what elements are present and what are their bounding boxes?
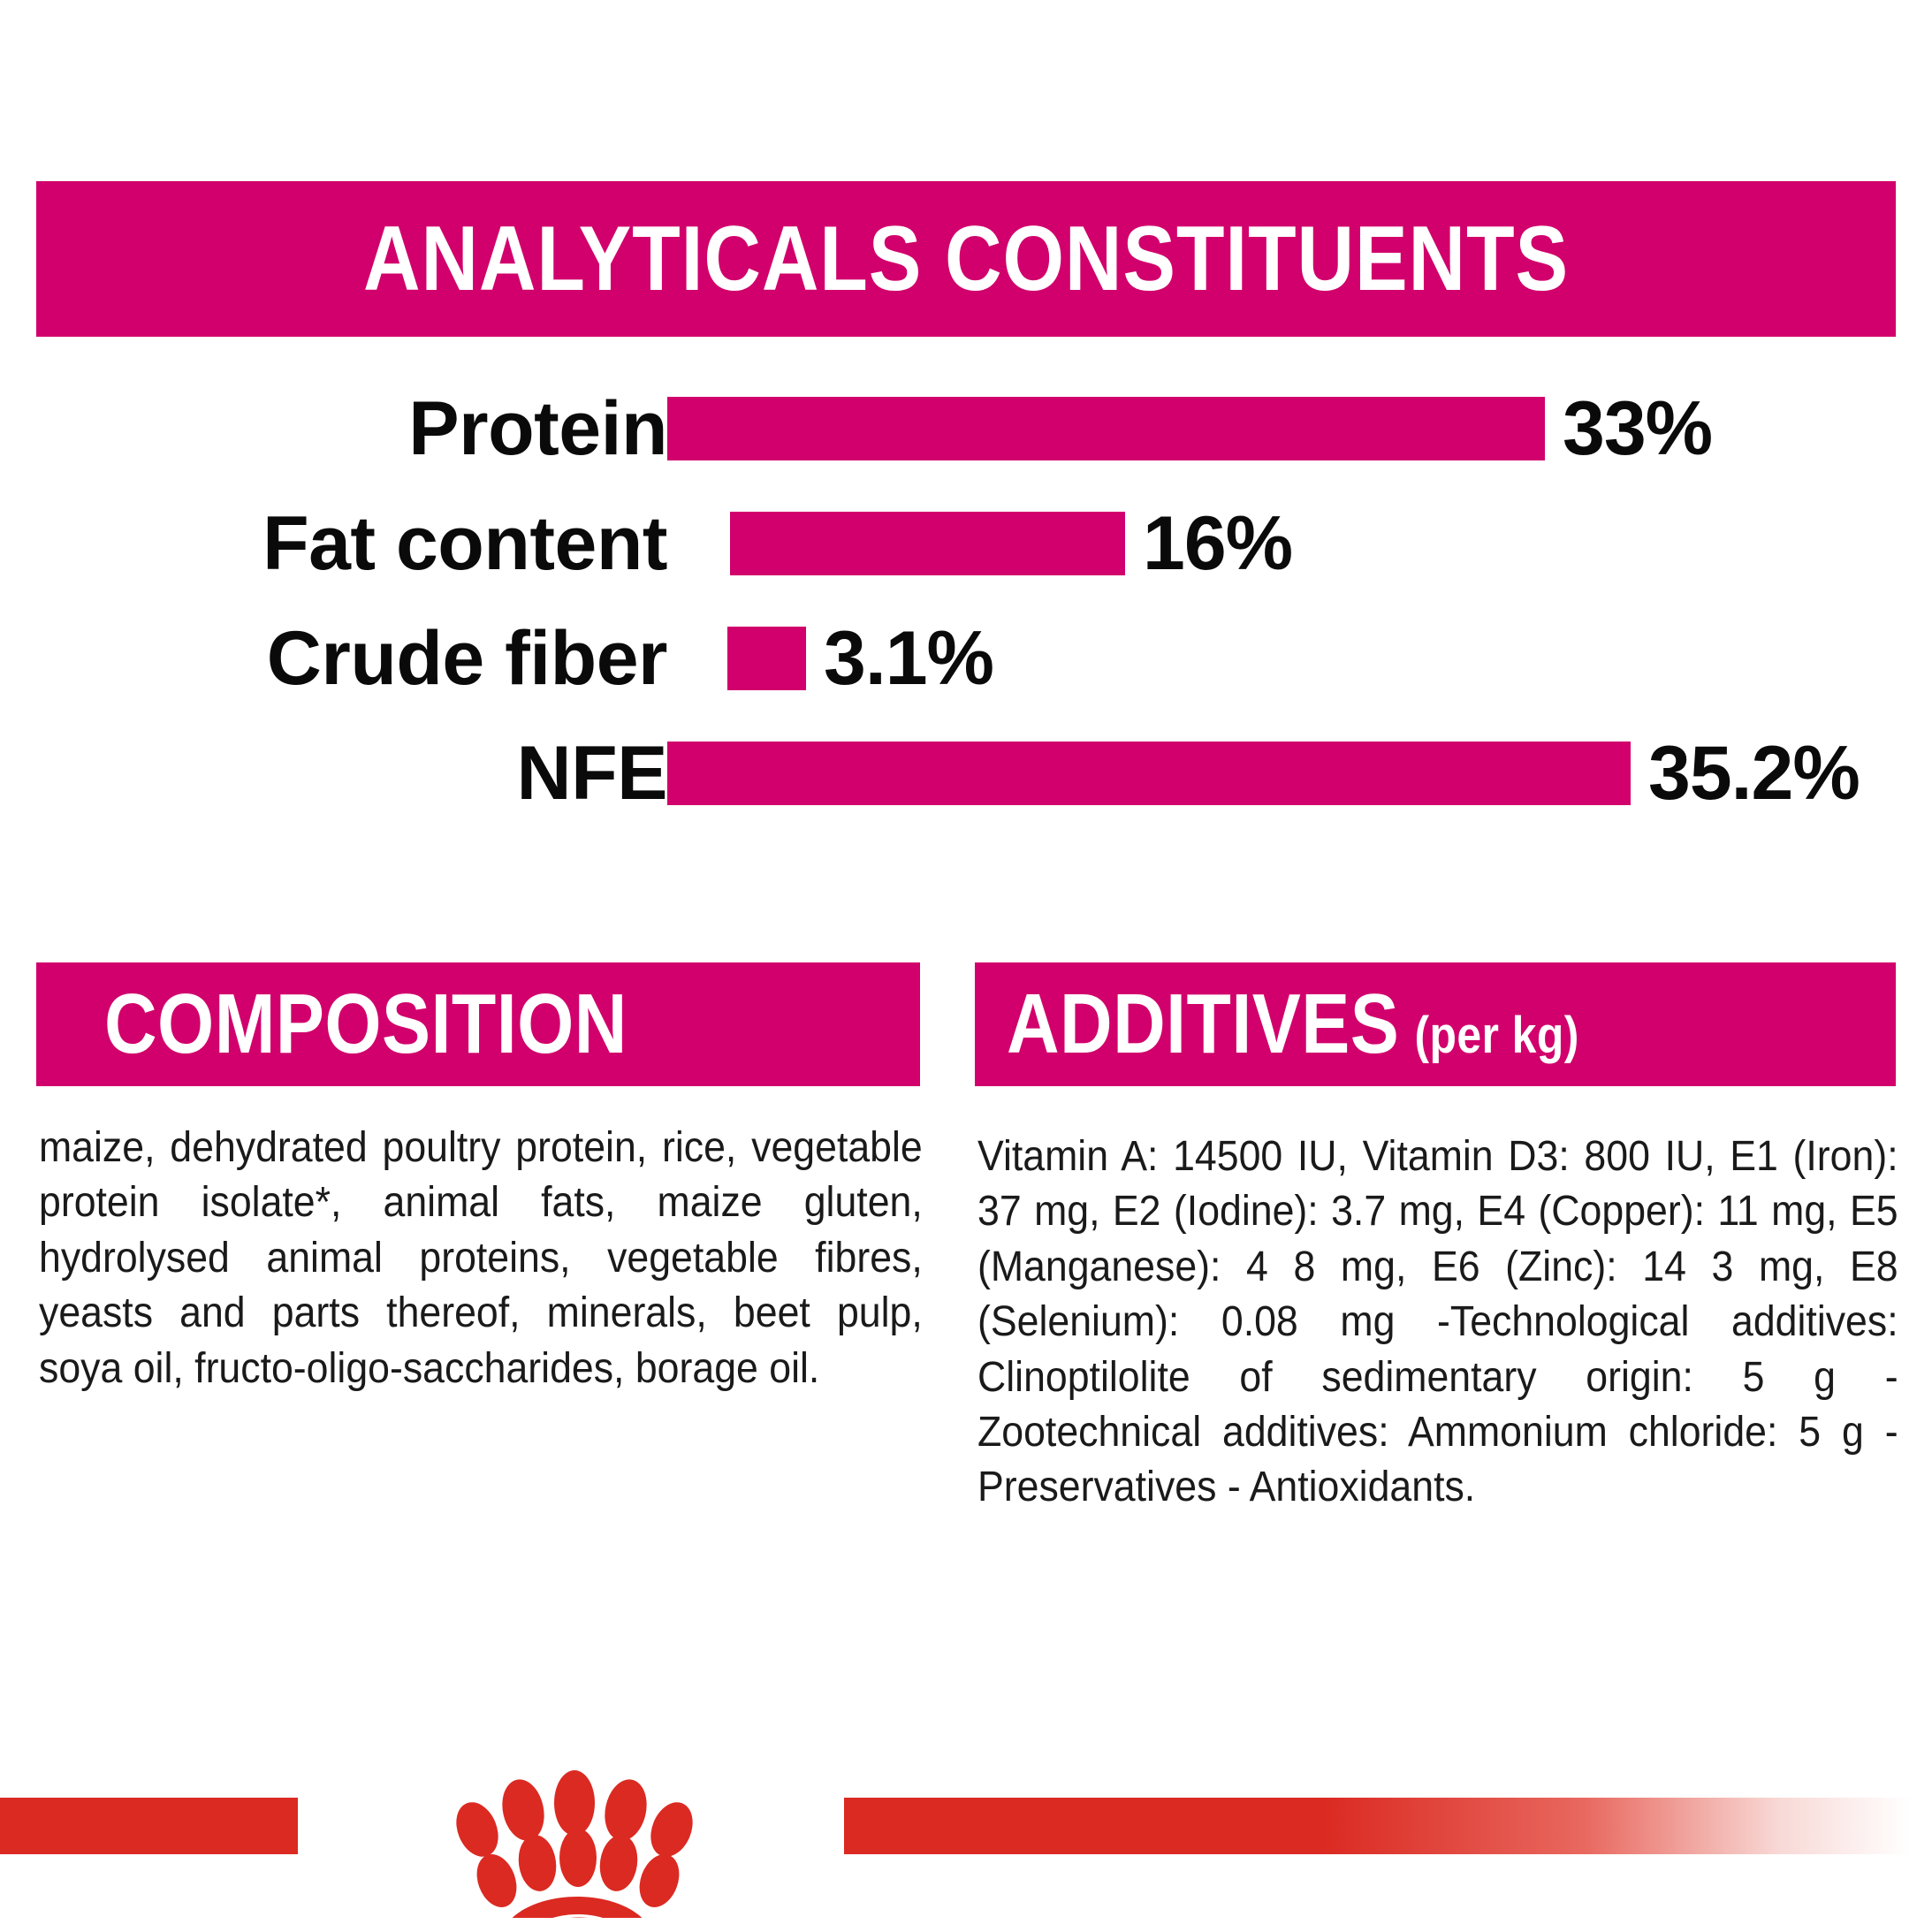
bar-label-protein: Protein <box>0 391 667 467</box>
bar-fill-crude-fiber <box>727 627 806 690</box>
bar-track-crude-fiber: 3.1% <box>667 610 1932 707</box>
additives-title-group: ADDITIVES (per kg) <box>1007 982 1579 1067</box>
bar-fill-protein <box>667 397 1545 460</box>
additives-body-text: Vitamin A: 14500 IU, Vitamin D3: 800 IU,… <box>977 1130 1898 1516</box>
additives-header: ADDITIVES (per kg) <box>975 962 1896 1086</box>
chart-row-nfe: NFE 35.2% <box>0 725 1932 822</box>
bar-label-crude-fiber: Crude fiber <box>0 620 667 696</box>
bar-value-fat-content: 16% <box>1143 506 1292 582</box>
composition-body-text: maize, dehydrated poultry protein, rice,… <box>39 1121 923 1396</box>
analyticals-constituents-title: ANALYTICALS CONSTITUENTS <box>363 213 1569 305</box>
bar-fill-nfe <box>667 742 1631 805</box>
chart-row-protein: Protein 33% <box>0 380 1932 477</box>
additives-subtitle-per-kg: (per kg) <box>1414 1010 1578 1061</box>
chart-row-fat-content: Fat content 16% <box>0 495 1932 592</box>
footer-bar-left-segment <box>0 1798 298 1854</box>
composition-header: COMPOSITION <box>36 962 920 1086</box>
bar-track-protein: 33% <box>667 380 1932 477</box>
footer-bar-right-segment <box>844 1798 1932 1854</box>
bar-track-nfe: 35.2% <box>667 725 1932 822</box>
analyticals-bar-chart: Protein 33% Fat content 16% Crude fiber … <box>0 380 1932 857</box>
analyticals-constituents-header: ANALYTICALS CONSTITUENTS <box>36 181 1896 337</box>
bar-label-nfe: NFE <box>0 735 667 811</box>
chart-row-crude-fiber: Crude fiber 3.1% <box>0 610 1932 707</box>
bar-label-fat-content: Fat content <box>0 506 667 582</box>
royal-canin-crown-paw-logo <box>327 1741 822 1918</box>
bar-value-crude-fiber: 3.1% <box>824 620 993 696</box>
bar-value-nfe: 35.2% <box>1648 735 1860 811</box>
bar-value-protein: 33% <box>1563 391 1712 467</box>
bar-fill-fat-content <box>730 512 1125 575</box>
composition-title: COMPOSITION <box>104 982 628 1067</box>
additives-title: ADDITIVES <box>1007 982 1399 1067</box>
bar-track-fat-content: 16% <box>667 495 1932 592</box>
footer-brand-strip <box>0 1798 1932 1854</box>
